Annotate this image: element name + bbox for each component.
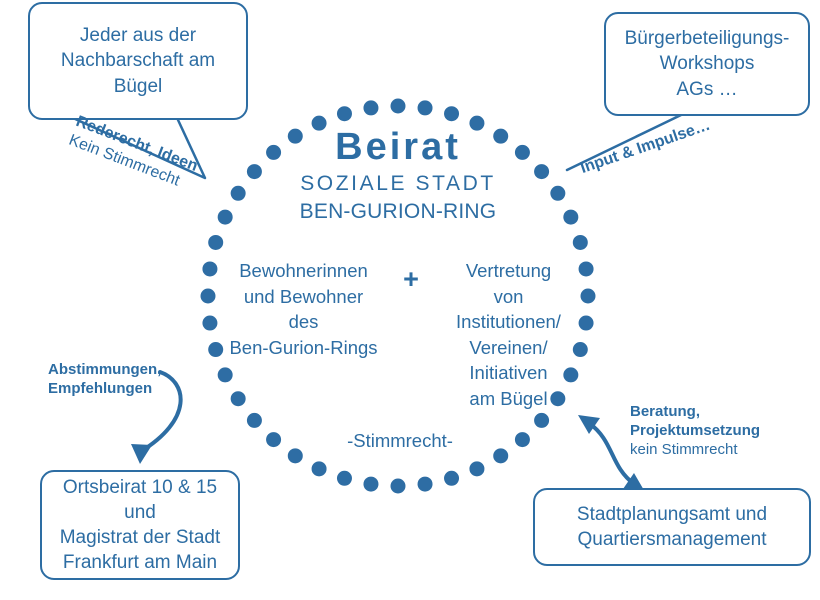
ring-dot [363, 100, 378, 115]
center-subtitle-2: BEN-GURION-RING [208, 199, 588, 225]
ring-dot [444, 106, 459, 121]
annotation-beratung-line-2: Projektumsetzung [630, 421, 760, 440]
bubble-neighbourhood-line-3: Bügel [38, 74, 238, 99]
members-residents-line-1: Bewohnerinnen [216, 258, 391, 284]
ring-dot [418, 477, 433, 492]
bubble-neighbourhood[interactable]: Jeder aus der Nachbarschaft am Bügel [28, 2, 248, 120]
annotation-rederecht: Rederecht, Ideen Kein Stimmrecht [66, 112, 200, 195]
page-title: Beirat [208, 126, 588, 169]
bubble-participation-line-3: AGs … [614, 77, 800, 102]
annotation-beratung-regular: kein Stimmrecht [630, 440, 760, 459]
annotation-abstimmungen-line-1: Abstimmungen, [48, 360, 161, 379]
members-institutions-line-5: Initiativen [431, 360, 586, 386]
center-heading: Beirat SOZIALE STADT BEN-GURION-RING [208, 126, 588, 225]
members-institutions-line-6: am Bügel [431, 386, 586, 412]
ring-dot [469, 461, 484, 476]
ring-dot [266, 432, 281, 447]
bubble-participation[interactable]: Bürgerbeteiligungs- Workshops AGs … [604, 12, 810, 116]
ring-dot [312, 461, 327, 476]
members-residents-line-4: Ben-Gurion-Rings [216, 335, 391, 361]
ring-dot [573, 235, 588, 250]
bubble-stadtplanung-line-1: Stadtplanungsamt und [543, 502, 801, 527]
members-institutions-line-3: Institutionen/ [431, 309, 586, 335]
bubble-participation-line-1: Bürgerbeteiligungs- [614, 26, 800, 51]
bubble-ortsbeirat-line-3: Magistrat der Stadt [50, 525, 230, 550]
bubble-ortsbeirat-line-4: Frankfurt am Main [50, 550, 230, 575]
ring-dot [337, 106, 352, 121]
members-residents-line-3: des [216, 309, 391, 335]
annotation-abstimmungen-line-2: Empfehlungen [48, 379, 161, 398]
bubble-participation-line-2: Workshops [614, 51, 800, 76]
voting-rights-note: -Stimmrecht- [300, 430, 500, 452]
annotation-input: Input & Impulse… [578, 116, 713, 179]
bubble-ortsbeirat[interactable]: Ortsbeirat 10 & 15 und Magistrat der Sta… [40, 470, 240, 580]
ring-dot [418, 100, 433, 115]
members-residents-line-2: und Bewohner [216, 284, 391, 310]
members-institutions-line-4: Vereinen/ [431, 335, 586, 361]
members-residents: Bewohnerinnen und Bewohner des Ben-Gurio… [216, 258, 391, 360]
ring-dot [515, 432, 530, 447]
members-row: Bewohnerinnen und Bewohner des Ben-Gurio… [206, 258, 596, 411]
ring-dot [534, 413, 549, 428]
ring-dot [363, 477, 378, 492]
annotation-beratung-line-1: Beratung, [630, 402, 760, 421]
ring-dot [391, 99, 406, 114]
members-institutions: Vertretung von Institutionen/ Vereinen/ … [431, 258, 586, 411]
annotation-abstimmungen: Abstimmungen, Empfehlungen [48, 360, 161, 398]
bubble-stadtplanung-line-2: Quartiersmanagement [543, 527, 801, 552]
ring-dot [391, 479, 406, 494]
ring-dot [337, 471, 352, 486]
plus-icon: + [391, 258, 431, 293]
bubble-neighbourhood-line-2: Nachbarschaft am [38, 48, 238, 73]
bubble-stadtplanung[interactable]: Stadtplanungsamt und Quartiersmanagement [533, 488, 811, 566]
members-institutions-line-1: Vertretung [431, 258, 586, 284]
annotation-beratung: Beratung, Projektumsetzung kein Stimmrec… [630, 402, 760, 460]
diagram-canvas: Jeder aus der Nachbarschaft am Bügel Bür… [0, 0, 820, 600]
center-subtitle-1: SOZIALE STADT [208, 169, 588, 199]
members-institutions-line-2: von [431, 284, 586, 310]
annotation-input-bold: Input & Impulse… [578, 116, 713, 179]
bubble-ortsbeirat-line-1: Ortsbeirat 10 & 15 [50, 475, 230, 500]
ring-dot [444, 471, 459, 486]
bubble-ortsbeirat-line-2: und [50, 500, 230, 525]
bubble-neighbourhood-line-1: Jeder aus der [38, 23, 238, 48]
ring-dot [208, 235, 223, 250]
ring-dot [247, 413, 262, 428]
